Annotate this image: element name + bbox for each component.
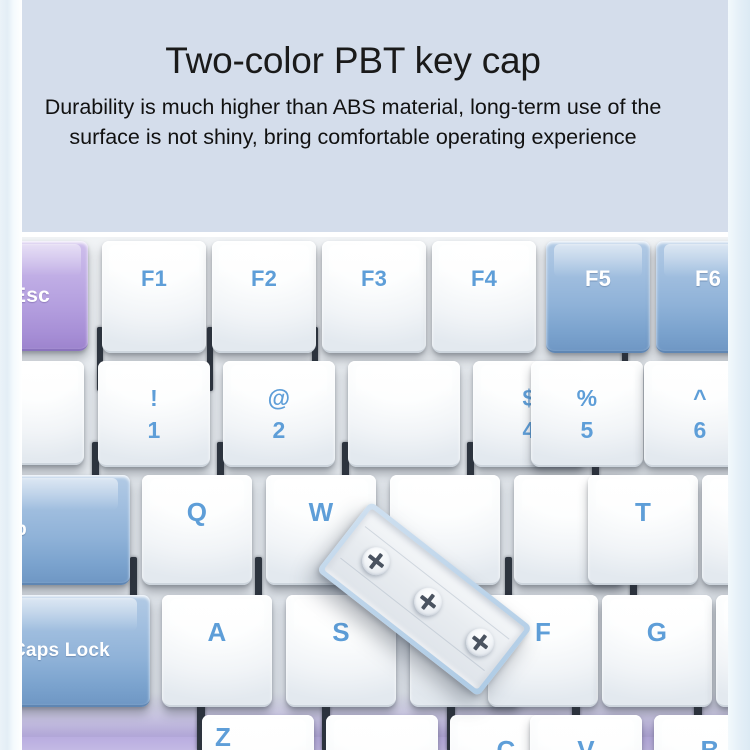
subtitle-line-2: surface is not shiny, bring comfortable … <box>10 122 696 152</box>
key-f3[interactable]: F3 <box>322 241 426 353</box>
key-h[interactable] <box>716 595 728 707</box>
key-g-label: G <box>602 595 712 705</box>
key-z-label: Z <box>202 715 314 750</box>
key-a-label: A <box>162 595 272 705</box>
key-v-label: V <box>530 715 642 750</box>
key-f5-label: F5 <box>546 241 650 351</box>
key-f4-label: F4 <box>432 241 536 351</box>
key-1-label: 1 <box>148 419 161 442</box>
key-2-shifted-label: @ <box>268 387 291 410</box>
key-esc[interactable]: Esc <box>22 241 88 351</box>
page-subtitle: Durability is much higher than ABS mater… <box>10 92 696 152</box>
key-f2-label: F2 <box>212 241 316 351</box>
key-esc-label: Esc <box>22 241 88 349</box>
key-5[interactable]: % 5 <box>531 361 643 467</box>
key-6-label: 6 <box>694 419 707 442</box>
key-y[interactable]: Y <box>702 475 728 585</box>
key-b[interactable]: B <box>654 715 728 750</box>
key-f1-label: F1 <box>102 241 206 351</box>
subtitle-line-1: Durability is much higher than ABS mater… <box>45 95 662 119</box>
header-banner: Two-color PBT key cap Durability is much… <box>0 0 750 236</box>
key-caps-lock[interactable]: Caps Lock <box>22 595 150 707</box>
key-1-shifted-label: ! <box>150 387 158 410</box>
key-5-shifted-label: % <box>577 387 598 410</box>
key-z[interactable]: Z <box>202 715 314 750</box>
keyboard-photo: Esc F1 F2 F3 F4 F5 F6 ! 1 <box>22 237 728 750</box>
key-f1[interactable]: F1 <box>102 241 206 353</box>
key-f6[interactable]: F6 <box>656 241 728 353</box>
key-t[interactable]: T <box>588 475 698 585</box>
key-1[interactable]: ! 1 <box>98 361 210 467</box>
key-caps-lock-label: Caps Lock <box>22 595 150 705</box>
key-t-label: T <box>588 475 698 583</box>
key-q[interactable]: Q <box>142 475 252 585</box>
key-x[interactable] <box>326 715 438 750</box>
key-f6-label: F6 <box>656 241 728 351</box>
key-tilde[interactable] <box>22 361 84 465</box>
key-tab-label: Tab <box>22 475 130 583</box>
key-v[interactable]: V <box>530 715 642 750</box>
key-2[interactable]: @ 2 <box>223 361 335 467</box>
key-tab[interactable]: Tab <box>22 475 130 585</box>
key-f3-label: F3 <box>322 241 426 351</box>
key-5-label: 5 <box>581 419 594 442</box>
left-edge-band <box>0 0 22 750</box>
key-a[interactable]: A <box>162 595 272 707</box>
product-feature-card: Two-color PBT key cap Durability is much… <box>0 0 750 750</box>
key-f4[interactable]: F4 <box>432 241 536 353</box>
key-3[interactable] <box>348 361 460 467</box>
key-6[interactable]: ^ 6 <box>644 361 728 467</box>
key-6-shifted-label: ^ <box>693 387 707 410</box>
key-y-label: Y <box>702 475 728 583</box>
key-g[interactable]: G <box>602 595 712 707</box>
key-f5[interactable]: F5 <box>546 241 650 353</box>
right-edge-band <box>728 0 750 750</box>
header-divider <box>22 232 728 237</box>
page-title: Two-color PBT key cap <box>0 39 706 83</box>
key-q-label: Q <box>142 475 252 583</box>
key-2-label: 2 <box>273 419 286 442</box>
key-b-label: B <box>654 715 728 750</box>
key-f2[interactable]: F2 <box>212 241 316 353</box>
